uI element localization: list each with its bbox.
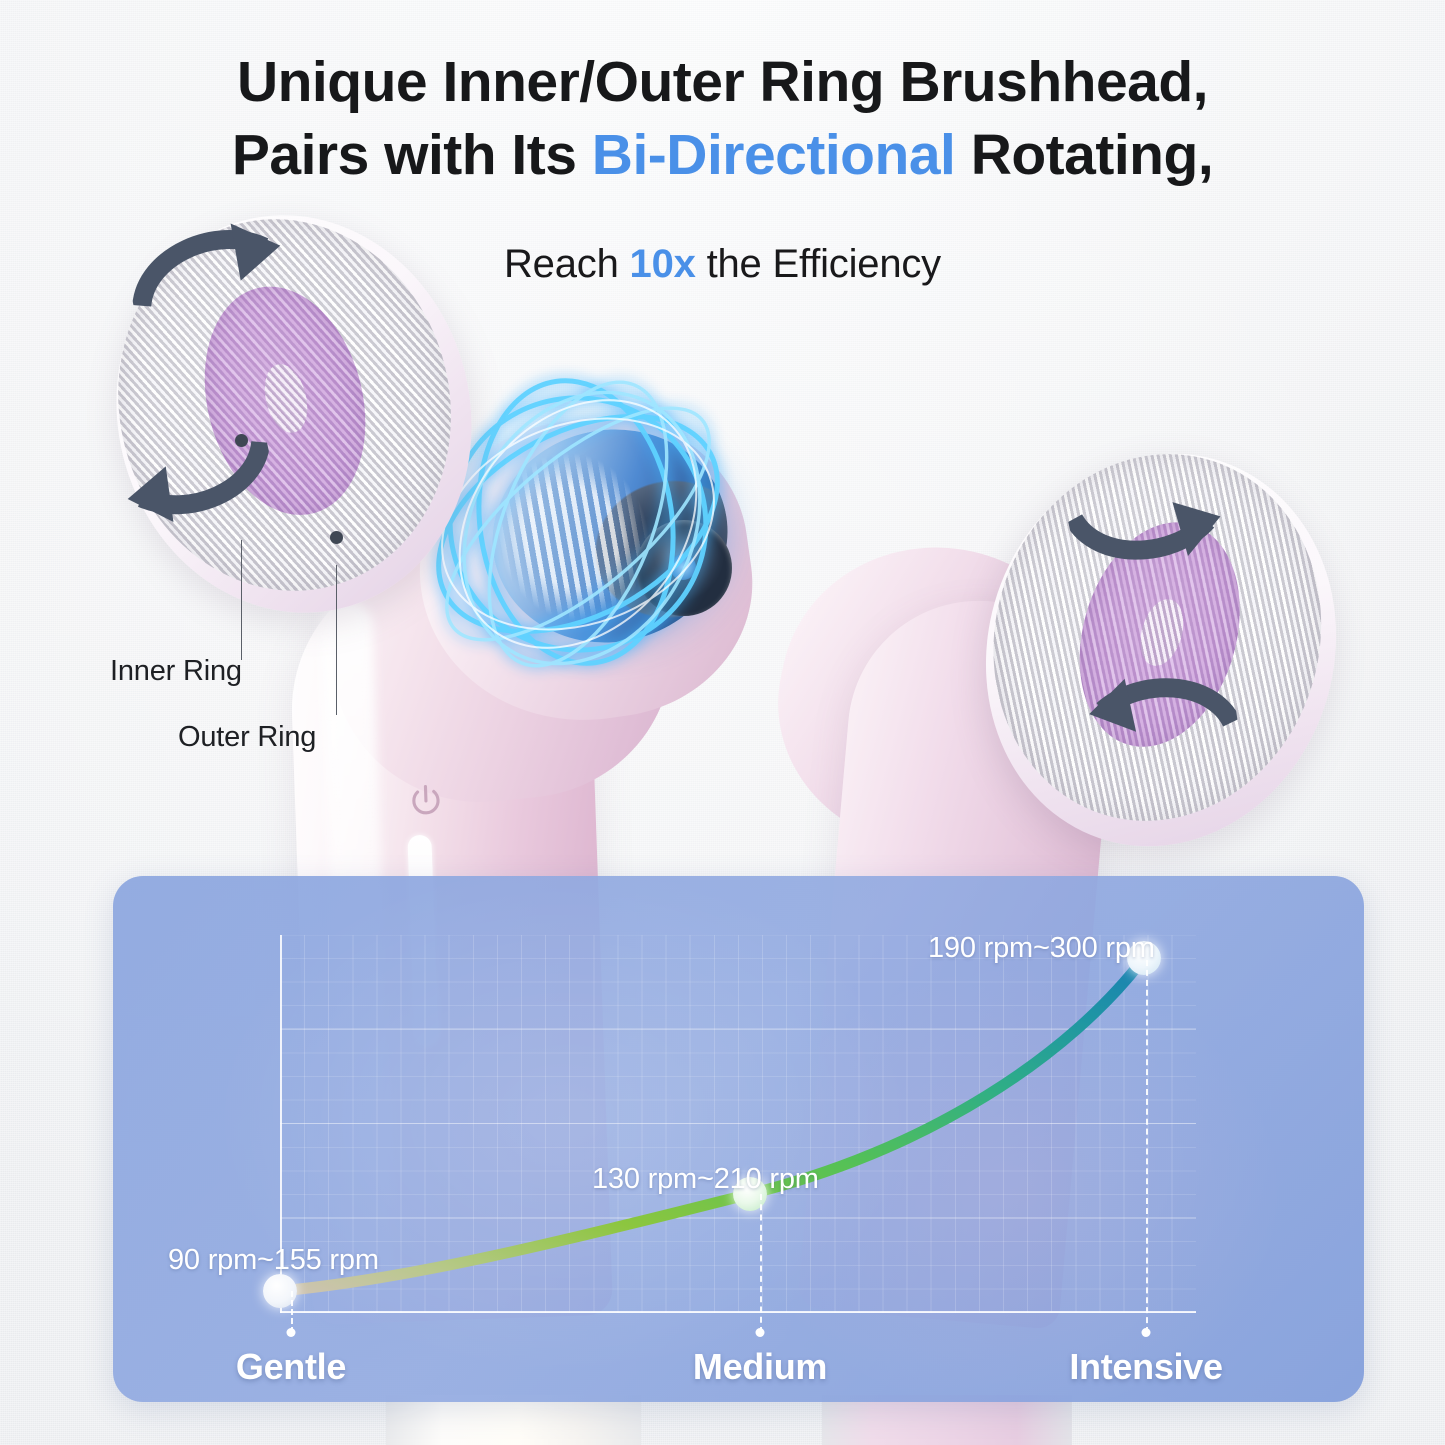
callout-dot-inner-ring [235,434,248,447]
subheadline-post: the Efficiency [696,242,941,286]
chart-tick-medium [756,1328,765,1337]
chart-dropline-gentle [291,1291,293,1333]
subheadline-pre: Reach [504,242,630,286]
callout-label-outer-ring: Outer Ring [178,721,316,754]
motor-hub [636,520,732,616]
power-icon [403,779,449,825]
inner-ring-core-right [1133,594,1190,671]
headline: Unique Inner/Outer Ring Brushhead, Pairs… [0,46,1445,192]
headline-line-1: Unique Inner/Outer Ring Brushhead, [0,46,1445,119]
headline-accent: Bi-Directional [592,123,956,187]
inner-ring-core-left [258,360,314,437]
chart-dropline-intensive [1146,960,1148,1333]
subheadline-highlight: 10x [630,242,696,286]
callout-leader-inner-ring [241,540,242,660]
handle-shaft-left-bottom [386,1395,641,1445]
headline-line-2-pre: Pairs with Its [232,123,592,187]
chart-tick-gentle [287,1328,296,1337]
chart-category-intensive: Intensive [1069,1346,1222,1388]
chart-plot-area [280,935,1196,1313]
chart-category-gentle: Gentle [236,1346,346,1388]
headline-line-2-post: Rotating, [955,123,1213,187]
speed-chart-panel [113,876,1364,1402]
handle-shaft-right-bottom [822,1395,1072,1445]
chart-curve [280,935,1196,1313]
chart-label-medium: 130 rpm~210 rpm [592,1163,819,1196]
chart-label-gentle: 90 rpm~155 rpm [168,1244,379,1277]
callout-dot-outer-ring [330,531,343,544]
callout-leader-outer-ring [336,565,337,715]
chart-dropline-medium [760,1194,762,1333]
headline-line-2: Pairs with Its Bi-Directional Rotating, [0,119,1445,192]
chart-label-intensive: 190 rpm~300 rpm [928,932,1155,965]
infographic-canvas: Unique Inner/Outer Ring Brushhead, Pairs… [0,0,1445,1445]
callout-label-inner-ring: Inner Ring [110,655,242,688]
subheadline: Reach 10x the Efficiency [0,240,1445,288]
chart-category-medium: Medium [693,1346,827,1388]
chart-tick-intensive [1142,1328,1151,1337]
